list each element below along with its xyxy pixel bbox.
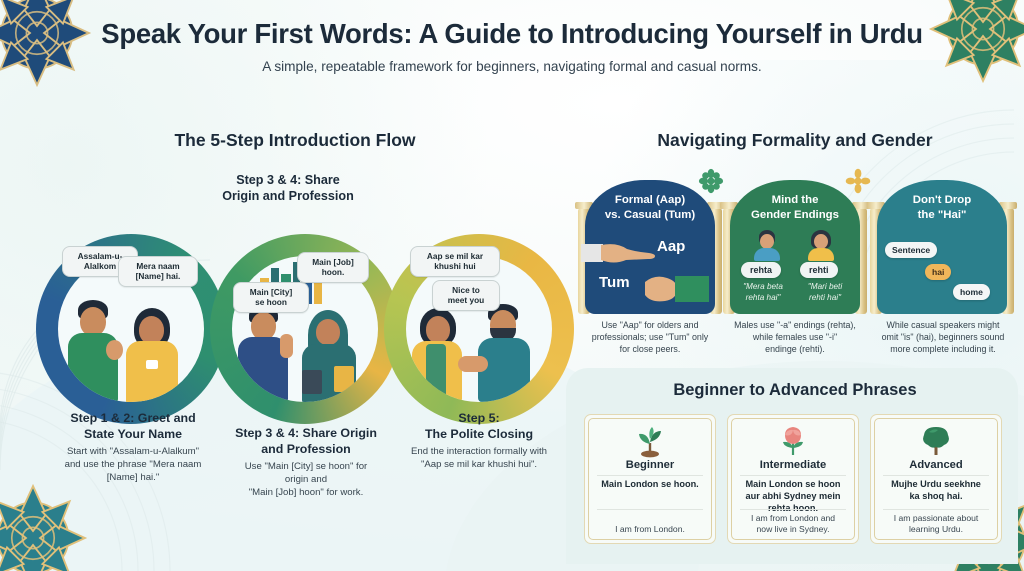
page-subtitle: A simple, repeatable framework for begin… (0, 59, 1024, 74)
formality-card-1-title: Formal (Aap) vs. Casual (Tum) (585, 193, 715, 222)
flow-caption-3-body: End the interaction formally with "Aap s… (376, 446, 582, 472)
formality-card-1-caption: Use "Aap" for olders and professionals; … (578, 320, 722, 356)
formality-card-3-title: Don't Drop the "Hai" (877, 193, 1007, 222)
formality-card-2-title: Mind the Gender Endings (730, 193, 860, 222)
illustration-person-job (300, 310, 366, 402)
phrases-section-heading: Beginner to Advanced Phrases (575, 381, 1015, 400)
tree-icon (871, 424, 1001, 458)
page-header: Speak Your First Words: A Guide to Intro… (0, 18, 1024, 74)
phrase-card-advanced[interactable]: Advanced Mujhe Urdu seekhne ka shoq hai.… (870, 414, 1002, 544)
male-avatar-icon (752, 230, 782, 260)
illustration-person-closing-left (410, 308, 472, 402)
infographic-canvas: Speak Your First Words: A Guide to Intro… (0, 0, 1024, 571)
flow-ring-3-scene (406, 256, 552, 402)
phrase-urdu-advanced: Mujhe Urdu seekhne ka shoq hai. (879, 479, 993, 503)
speech-bubble-job: Main [Job] hoon. (297, 252, 369, 283)
formality-card-1[interactable]: Formal (Aap) vs. Casual (Tum) Aap Tum (585, 180, 715, 314)
formality-section-heading: Navigating Formality and Gender (575, 130, 1015, 151)
formality-card-2[interactable]: Mind the Gender Endings rehta rehti "Mer… (730, 180, 860, 314)
seedling-icon (585, 424, 715, 458)
speech-bubble-city: Main [City] se hoon (233, 282, 309, 313)
phrase-english-advanced: I am passionate about learning Urdu. (879, 513, 993, 535)
female-avatar-icon (806, 230, 836, 260)
gender-quote-female: "Mari beti rehti hai" (796, 282, 854, 303)
speech-bubble-name: Mera naam [Name] hai. (118, 256, 198, 287)
formality-card-2-caption: Males use "-a" endings (rehta), while fe… (722, 320, 868, 356)
formality-word-tum: Tum (599, 274, 630, 291)
phrase-english-intermediate: I am from London and now live in Sydney. (736, 513, 850, 535)
corner-ornament-bottom-left-icon (0, 479, 92, 571)
page-title: Speak Your First Words: A Guide to Intro… (0, 18, 1024, 50)
gender-tag-female: rehti (800, 262, 838, 278)
phrase-level-intermediate: Intermediate (728, 459, 858, 471)
hai-chip-sentence: Sentence (885, 242, 937, 258)
illustration-person-name (124, 308, 188, 402)
flow-top-step-label: Step 3 & 4: Share Origin and Profession (178, 172, 398, 204)
speech-bubble-closing-urdu: Aap se mil kar khushi hui (410, 246, 500, 277)
phrase-card-intermediate[interactable]: Intermediate Main London se hoon aur abh… (727, 414, 859, 544)
flow-caption-3: Step 5: The Polite Closing End the inter… (376, 411, 582, 472)
illustration-person-city (236, 306, 298, 402)
formality-card-3[interactable]: Don't Drop the "Hai" Sentence hai home (877, 180, 1007, 314)
illustration-person-greeting (66, 300, 126, 402)
phrase-card-beginner[interactable]: Beginner Main London se hoon. I am from … (584, 414, 716, 544)
illustration-person-closing-right (476, 304, 540, 402)
handshake-icon (458, 356, 488, 372)
flow-caption-3-title: Step 5: The Polite Closing (376, 411, 582, 442)
speech-bubble-closing-english: Nice to meet you (432, 280, 500, 311)
formality-word-aap: Aap (657, 238, 685, 255)
hai-chip-home: home (953, 284, 990, 300)
phrase-english-beginner: I am from London. (593, 524, 707, 535)
gender-quote-male: "Mera beta rehta hai" (734, 282, 792, 303)
formality-card-3-caption: While casual speakers might omit "is" (h… (868, 320, 1018, 356)
hai-chip-hai: hai (925, 264, 951, 280)
flow-section-heading: The 5-Step Introduction Flow (60, 130, 530, 151)
fist-hand-icon (641, 272, 715, 306)
phrase-level-advanced: Advanced (871, 459, 1001, 471)
gender-tag-male: rehta (741, 262, 781, 278)
phrase-level-beginner: Beginner (585, 459, 715, 471)
phrase-urdu-beginner: Main London se hoon. (593, 479, 707, 491)
tulip-icon (728, 424, 858, 458)
